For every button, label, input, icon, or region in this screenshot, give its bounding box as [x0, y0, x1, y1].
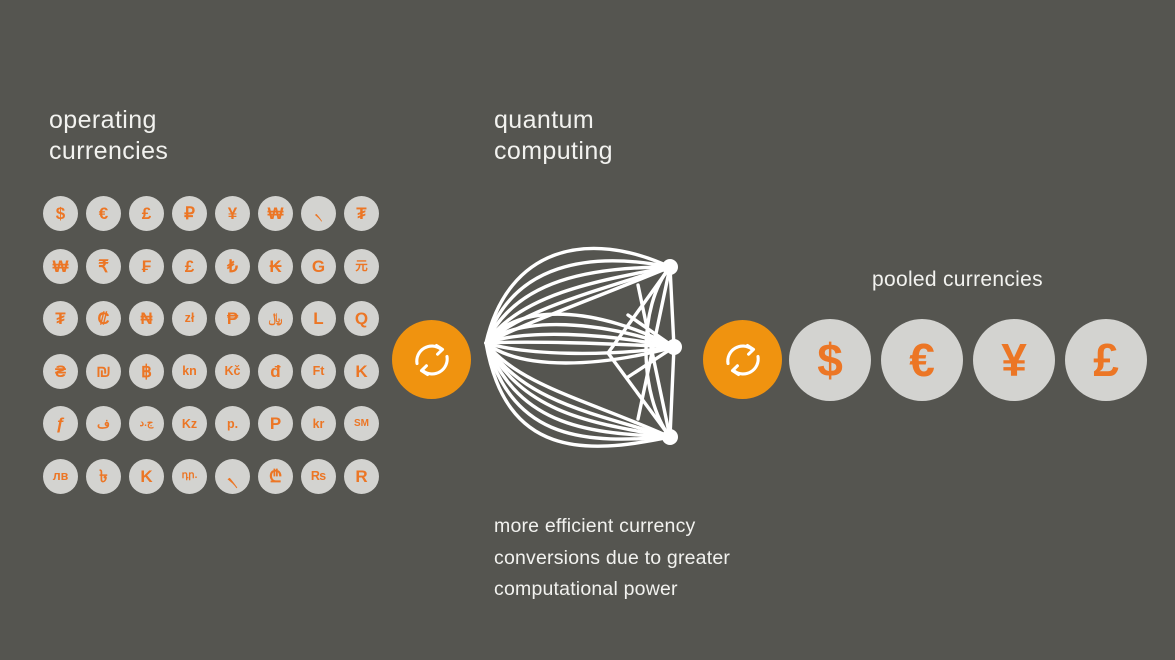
currency-coin-naira: ₦: [129, 301, 164, 336]
page-title-operating-currencies: operating currencies: [49, 105, 168, 167]
currency-coin-fils: ف: [86, 406, 121, 441]
currency-coin-peso: ₱: [215, 301, 250, 336]
currency-coin-koruna: Kč: [215, 354, 250, 389]
pooled-coin-dollar: $: [789, 319, 871, 401]
currency-coin-tugrik: ₮: [43, 301, 78, 336]
currency-coin-franc: ₣: [129, 249, 164, 284]
currency-conversion-icon-left[interactable]: [392, 320, 471, 399]
currency-coin-pula: P: [258, 406, 293, 441]
coin-symbol: $: [817, 337, 843, 383]
pooled-coin-yen: ¥: [973, 319, 1055, 401]
currency-coin-lek: L: [301, 301, 336, 336]
currency-coin-taka: ৳: [86, 459, 121, 494]
currency-coin-kina: K: [344, 354, 379, 389]
currency-coin-colon: ₡: [86, 301, 121, 336]
currency-coin-kyat: K: [129, 459, 164, 494]
currency-coin-taka-mark: ৲: [301, 196, 336, 231]
network-node: [666, 339, 682, 355]
currency-coin-pound: £: [172, 249, 207, 284]
currency-coin-yuan: 元: [344, 249, 379, 284]
pooled-currencies-label: pooled currencies: [872, 268, 1043, 292]
currency-conversion-icon-right[interactable]: [703, 320, 782, 399]
currency-coin-ruble: ₽: [172, 196, 207, 231]
currency-coin-tugrik: ₮: [344, 196, 379, 231]
coin-symbol: £: [1093, 337, 1119, 383]
currency-coin-lev: лв: [43, 459, 78, 494]
currency-coin-paisa: p.: [215, 406, 250, 441]
currency-coin-dong: đ: [258, 354, 293, 389]
pooled-coin-euro: €: [881, 319, 963, 401]
currency-coin-rand: R: [344, 459, 379, 494]
currency-coin-won: ₩: [43, 249, 78, 284]
currency-coin-lira: ₺: [215, 249, 250, 284]
currency-coin-baht: ฿: [129, 354, 164, 389]
page-title-quantum-computing: quantum computing: [494, 105, 613, 167]
network-node: [662, 259, 678, 275]
currency-coin-krona: kr: [301, 406, 336, 441]
currency-coin-gourde: G: [301, 249, 336, 284]
refresh-cycle-icon: [408, 336, 456, 384]
currency-coin-dinar: ج.د: [129, 406, 164, 441]
currency-coin-lari: ₾: [258, 459, 293, 494]
currency-coin-hryvnia: ₴: [43, 354, 78, 389]
efficiency-caption: more efficient currency conversions due …: [494, 511, 834, 606]
currency-coin-won: ₩: [258, 196, 293, 231]
pooled-coin-pound: £: [1065, 319, 1147, 401]
quantum-neural-network-icon: [478, 225, 700, 465]
currency-coin-pound: £: [129, 196, 164, 231]
currency-coin-rupee: ₹: [86, 249, 121, 284]
currency-coin-kwanza: Kz: [172, 406, 207, 441]
network-node: [662, 429, 678, 445]
currency-coin-somoni: SM: [344, 406, 379, 441]
currency-coin-rupee-mark: ৲: [215, 459, 250, 494]
currency-coin-rial: ﷼: [258, 301, 293, 336]
coin-symbol: €: [909, 337, 935, 383]
currency-coin-kip: ₭: [258, 249, 293, 284]
currency-coin-zloty: zł: [172, 301, 207, 336]
coin-symbol: ¥: [1001, 337, 1027, 383]
currency-coin-kuna: kn: [172, 354, 207, 389]
currency-coin-euro: €: [86, 196, 121, 231]
currency-coin-florin: ƒ: [43, 406, 78, 441]
operating-currency-grid: $€£₽¥₩৲₮₩₹₣£₺₭G元₮₡₦zł₱﷼LQ₴₪฿knKčđFtKƒفج.…: [43, 196, 387, 512]
currency-coin-rupees: ₨: [301, 459, 336, 494]
currency-coin-forint: Ft: [301, 354, 336, 389]
infographic-canvas: operating currencies quantum computing $…: [0, 0, 1175, 660]
currency-coin-quetzal: Q: [344, 301, 379, 336]
refresh-cycle-icon: [719, 336, 767, 384]
currency-coin-yen: ¥: [215, 196, 250, 231]
currency-coin-shekel: ₪: [86, 354, 121, 389]
currency-coin-dollar: $: [43, 196, 78, 231]
currency-coin-dram: դր.: [172, 459, 207, 494]
